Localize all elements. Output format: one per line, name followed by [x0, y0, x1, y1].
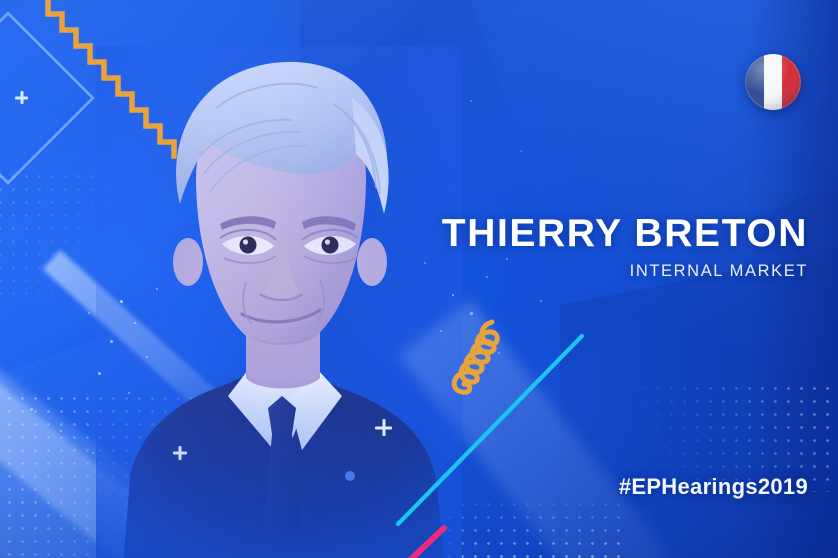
france-flag-icon	[745, 54, 801, 110]
event-promo-card: THIERRY BRETON INTERNAL MARKET #EPHearin…	[0, 0, 838, 558]
france-flag-svg	[745, 54, 801, 110]
name-block: THIERRY BRETON INTERNAL MARKET	[388, 214, 808, 281]
commissioner-name: THIERRY BRETON	[388, 214, 808, 255]
event-hashtag: #EPHearings2019	[619, 474, 808, 500]
commissioner-portfolio: INTERNAL MARKET	[388, 262, 808, 281]
